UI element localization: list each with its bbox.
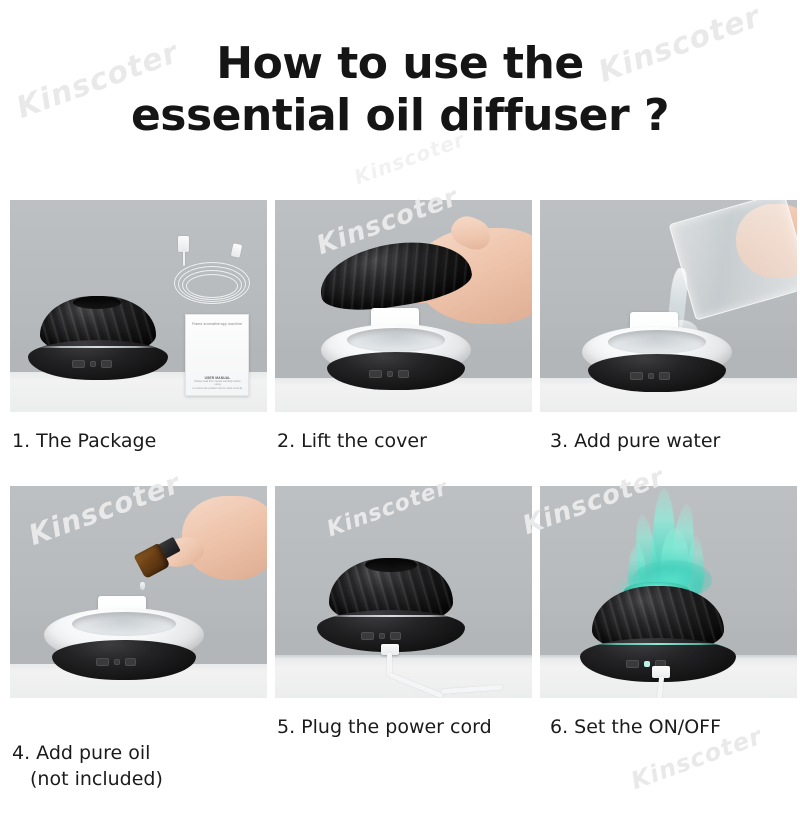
cable-lead [183,250,185,266]
step-caption-6: 6. Set the ON/OFF [550,714,721,740]
cone-opening [365,558,417,572]
step-caption-2: 2. Lift the cover [277,428,427,454]
diffuser-assembled [317,558,465,654]
power-button[interactable] [630,372,643,380]
usb-port[interactable] [659,372,670,380]
infographic-page: Kinscoter Kinscoter Kinscoter Kinscoter … [0,0,800,800]
usb-c-plug [231,243,243,258]
indicator-led [379,633,385,639]
indicator-led [644,661,650,667]
cable-loop [186,274,238,298]
indicator-led [114,659,120,665]
step-image-4-add-pure-oil: Max line [10,486,267,698]
step-caption-5: 5. Plug the power cord [277,714,492,740]
step-image-1-the-package: Flame aromatherapy machine USER MANUAL P… [10,200,267,412]
bowl-well [347,328,445,352]
step-image-5-plug-the-power-cord [275,486,532,698]
control-panel[interactable] [361,632,401,640]
usb-port[interactable] [390,632,401,640]
step-caption-4: 4. Add pure oil (not included) [12,714,163,818]
bowl-well [608,330,706,354]
title-line-1: How to use the [216,38,583,89]
power-button[interactable] [72,360,85,368]
step-caption-1: 1. The Package [12,428,156,454]
diffuser-base [28,340,168,380]
indicator-led [648,373,654,379]
usb-cable [170,236,256,310]
step-image-6-set-the-on-off [540,486,797,698]
control-panel[interactable] [630,372,670,380]
control-panel[interactable] [72,360,112,368]
diffuser-base-open: Max line [321,308,471,390]
page-title: How to use the essential oil diffuser ? [0,38,800,142]
base-light-ring [36,346,159,348]
cone-opening [73,296,121,309]
bowl-well [72,612,176,636]
manual-footer-line-1: Please read this manual carefully before… [192,380,243,387]
flame-effect [616,488,726,596]
title-line-2: essential oil diffuser ? [0,90,800,142]
usb-port[interactable] [398,370,409,378]
indicator-led [387,371,393,377]
manual-footer: USER MANUAL Please read this manual care… [192,376,243,390]
step-caption-4-sub: (not included) [12,766,163,792]
power-button[interactable] [626,660,639,668]
manual-title: Flame aromatherapy machine [192,322,242,326]
oil-drop [140,582,145,590]
user-manual-booklet: Flame aromatherapy machine USER MANUAL P… [185,314,249,396]
base-light-ring [326,615,456,617]
base-light-ring [589,643,726,645]
step-caption-4-main: 4. Add pure oil [12,742,150,764]
power-button[interactable] [369,370,382,378]
control-panel[interactable] [369,370,409,378]
control-panel[interactable] [96,658,136,666]
step-image-3-add-pure-water: Max line [540,200,797,412]
table-edge [275,655,532,658]
step-caption-3: 3. Add pure water [550,428,720,454]
diffuser-base-open: Max line [44,596,204,680]
indicator-led [90,361,96,367]
diffuser-base [52,640,196,680]
usb-port[interactable] [101,360,112,368]
power-button[interactable] [96,658,109,666]
diffuser-base [588,354,726,392]
diffuser-base-open: Max line [582,312,732,392]
manual-footer-line-2: to ensure the product can be used correc… [192,387,243,390]
power-button[interactable] [361,632,374,640]
diffuser-assembled [28,296,168,382]
step-image-2-lift-the-cover: Max line [275,200,532,412]
diffuser-base [327,352,465,390]
usb-port[interactable] [125,658,136,666]
